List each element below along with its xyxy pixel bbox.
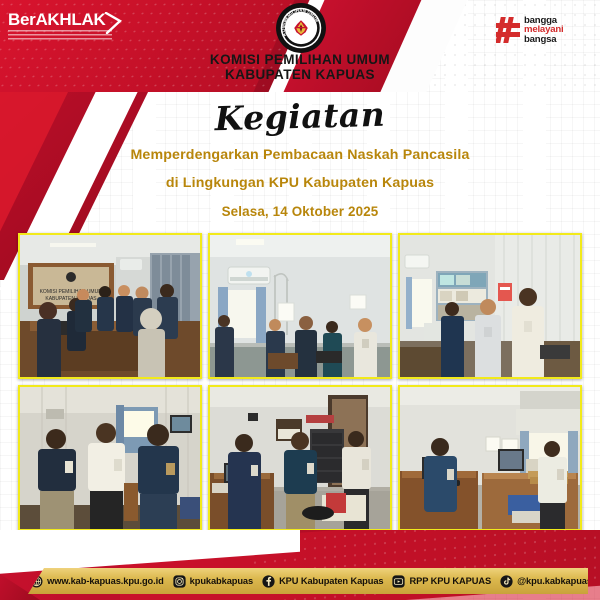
photo-2-image [210, 235, 390, 379]
facebook-icon [262, 575, 275, 588]
footer-item-tiktok[interactable]: @kpu.kabkapuas [500, 575, 592, 588]
activity-line-2: di Lingkungan KPU Kabupaten Kapuas [0, 175, 600, 191]
footer-item-youtube[interactable]: RPP KPU KAPUAS [392, 575, 491, 588]
instagram-icon [173, 575, 186, 588]
berakhlak-logo: BerAKHLAK Berorientasi Pelayanan, Akunta… [8, 10, 120, 50]
footer-label-website: www.kab-kapuas.kpu.go.id [47, 576, 164, 586]
photo-item[interactable]: Tiga pegawai berdiri berdampingan di rua… [18, 385, 202, 531]
photo-4-image [20, 387, 200, 531]
svg-text:KOMISI PEMILIHAN UMUM: KOMISI PEMILIHAN UMUM [40, 289, 103, 295]
kpu-seal-icon: KOMISI PEMILIHAN UMUM [275, 2, 327, 54]
footer-item-facebook[interactable]: KPU Kabupaten Kapuas [262, 575, 383, 588]
photo-6-image [400, 387, 580, 531]
photo-item[interactable]: Lima pegawai berdiri di ruang kerja deng… [208, 233, 392, 379]
title-block: Kegiatan Memperdengarkan Pembacaan Naska… [0, 92, 600, 219]
bmb-word-3: bangsa [524, 35, 563, 44]
photo-grid: KOMISI PEMILIHAN UMUM KABUPATEN KAPUAS [18, 233, 582, 531]
footer-item-website[interactable]: www.kab-kapuas.kpu.go.id [30, 575, 164, 588]
photo-1-image: KOMISI PEMILIHAN UMUM KABUPATEN KAPUAS [20, 235, 200, 379]
youtube-icon [392, 575, 405, 588]
footer-label-youtube: RPP KPU KAPUAS [409, 576, 491, 586]
bangga-melayani-bangsa-logo: bangga melayani bangsa [496, 10, 592, 50]
photo-item[interactable]: Tiga pegawai berdiri di ruang kerja deng… [208, 385, 392, 531]
photo-item[interactable]: Dua pegawai berdiri di ruang kerja denga… [398, 385, 582, 531]
berakhlak-swoosh-icon [104, 12, 122, 34]
script-heading: Kegiatan [0, 89, 600, 144]
organization-title-line2: KABUPATEN KAPUAS [0, 67, 600, 82]
organization-title: KOMISI PEMILIHAN UMUM KABUPATEN KAPUAS [0, 52, 600, 82]
hashtag-icon [496, 16, 520, 44]
photo-item[interactable]: KOMISI PEMILIHAN UMUM KABUPATEN KAPUAS [18, 233, 202, 379]
photo-3-image [400, 235, 580, 379]
footer-label-tiktok: @kpu.kabkapuas [517, 576, 592, 586]
bangga-melayani-bangsa-words: bangga melayani bangsa [524, 16, 563, 44]
tiktok-icon [500, 575, 513, 588]
activity-line-1: Memperdengarkan Pembacaan Naskah Pancasi… [0, 147, 600, 163]
organization-title-line1: KOMISI PEMILIHAN UMUM [0, 52, 600, 67]
photo-item[interactable]: Tiga pegawai berdiri di ruang arsip deng… [398, 233, 582, 379]
social-media-ribbon: www.kab-kapuas.kpu.go.id kpukabkapuas KP… [28, 568, 588, 594]
footer-label-facebook: KPU Kabupaten Kapuas [279, 576, 383, 586]
berakhlak-logo-subtext: Berorientasi Pelayanan, Akuntabel, Kompe… [8, 30, 112, 42]
footer-item-instagram[interactable]: kpukabkapuas [173, 575, 253, 588]
poster-canvas: BerAKHLAK Berorientasi Pelayanan, Akunta… [0, 0, 600, 600]
photo-5-image [210, 387, 390, 531]
footer-label-instagram: kpukabkapuas [190, 576, 253, 586]
activity-date: Selasa, 14 Oktober 2025 [0, 204, 600, 219]
